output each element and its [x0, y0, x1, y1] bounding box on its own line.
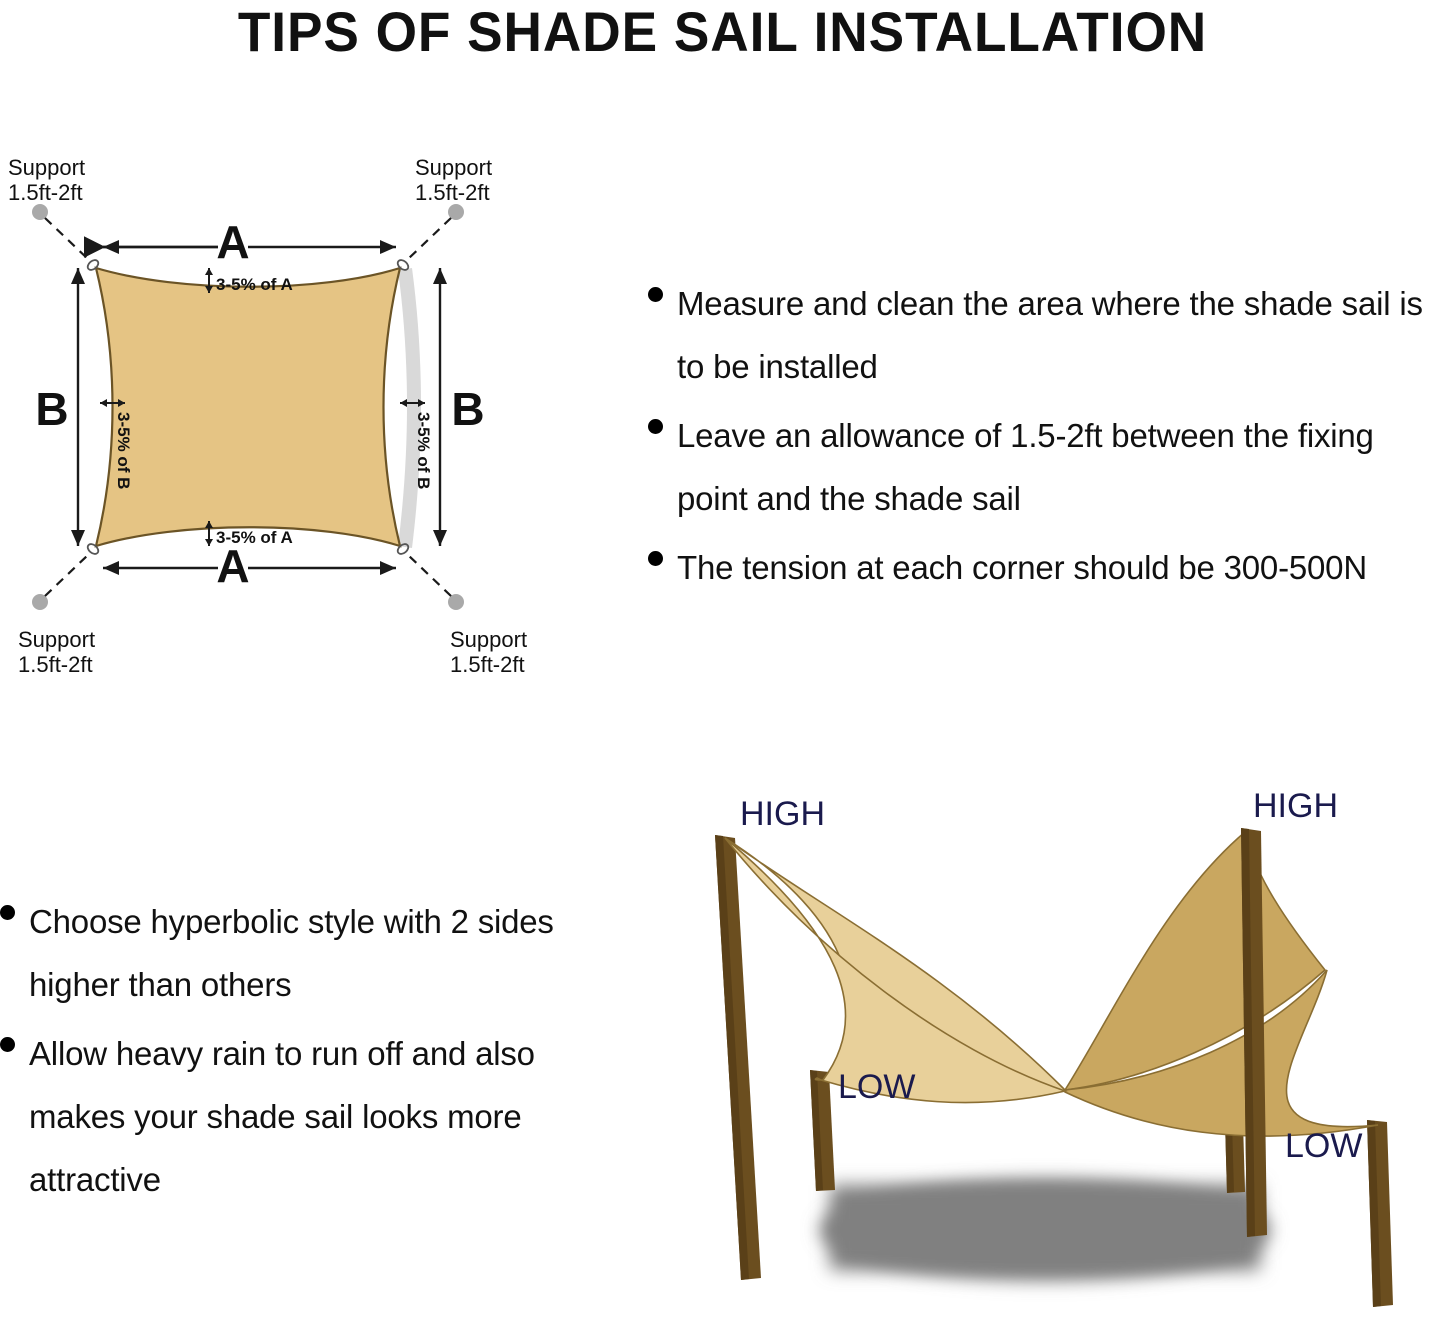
- post-low-right: [1367, 1120, 1393, 1307]
- dimension-b-right: B: [433, 268, 485, 546]
- post-high-left: [715, 835, 761, 1280]
- sail-edge-shadow: [398, 268, 421, 548]
- bullet-dot-icon: [648, 287, 663, 302]
- svg-text:3-5% of A: 3-5% of A: [216, 275, 293, 294]
- list-item-text: Leave an allowance of 1.5-2ft between th…: [677, 404, 1445, 530]
- installation-tips-measurement-list: Measure and clean the area where the sha…: [648, 272, 1445, 605]
- label-low-left: LOW: [838, 1068, 915, 1106]
- dimension-a-top: A: [103, 216, 396, 268]
- bullet-dot-icon: [648, 551, 663, 566]
- list-item-text: Choose hyperbolic style with 2 sides hig…: [29, 890, 620, 1016]
- bullet-dot-icon: [648, 419, 663, 434]
- curve-label-top: 3-5% of A: [205, 268, 293, 294]
- list-item-text: The tension at each corner should be 300…: [677, 536, 1367, 599]
- sail-fabric: [96, 268, 400, 546]
- label-b-right: B: [451, 383, 484, 435]
- support-label-tr-line2: 1.5ft-2ft: [415, 180, 490, 205]
- dimension-b-left: B: [35, 268, 85, 546]
- list-item-text: Allow heavy rain to run off and also mak…: [29, 1022, 620, 1211]
- rect-sail-diagram: A 3-5% of A A 3-5% of A: [0, 150, 660, 750]
- label-high-left: HIGH: [740, 795, 825, 833]
- label-a-top: A: [216, 216, 249, 268]
- list-item: Allow heavy rain to run off and also mak…: [0, 1022, 620, 1211]
- dimension-a-bottom: A: [103, 540, 396, 592]
- bullet-dot-icon: [0, 1037, 15, 1052]
- support-label-br-line1: Support: [450, 627, 527, 652]
- post-low-left: [810, 1070, 835, 1191]
- label-b-left: B: [35, 383, 68, 435]
- support-label-bl-line1: Support: [18, 627, 95, 652]
- svg-text:3-5% of A: 3-5% of A: [216, 528, 293, 547]
- list-item: The tension at each corner should be 300…: [648, 536, 1445, 599]
- support-label-br-line2: 1.5ft-2ft: [450, 652, 525, 677]
- ground-shadow-core: [830, 1185, 1260, 1270]
- list-item: Measure and clean the area where the sha…: [648, 272, 1445, 398]
- support-label-tl-line1: Support: [8, 155, 85, 180]
- installation-tips-hyperbolic-list: Choose hyperbolic style with 2 sides hig…: [0, 890, 620, 1217]
- support-label-tr-line1: Support: [415, 155, 492, 180]
- label-high-right: HIGH: [1253, 787, 1338, 825]
- list-item: Leave an allowance of 1.5-2ft between th…: [648, 404, 1445, 530]
- bullet-dot-icon: [0, 905, 15, 920]
- label-low-right: LOW: [1285, 1127, 1362, 1165]
- list-item-text: Measure and clean the area where the sha…: [677, 272, 1445, 398]
- page-title: TIPS OF SHADE SAIL INSTALLATION: [36, 0, 1409, 62]
- support-label-bl-line2: 1.5ft-2ft: [18, 652, 93, 677]
- label-a-bottom: A: [216, 540, 249, 592]
- support-label-tl-line2: 1.5ft-2ft: [8, 180, 83, 205]
- curve-label-left: 3-5% of B: [100, 399, 133, 489]
- svg-text:3-5% of B: 3-5% of B: [114, 412, 133, 489]
- hyperbolic-sail-diagram: HIGH HIGH LOW LOW: [645, 780, 1445, 1319]
- list-item: Choose hyperbolic style with 2 sides hig…: [0, 890, 620, 1016]
- svg-text:3-5% of B: 3-5% of B: [414, 412, 433, 489]
